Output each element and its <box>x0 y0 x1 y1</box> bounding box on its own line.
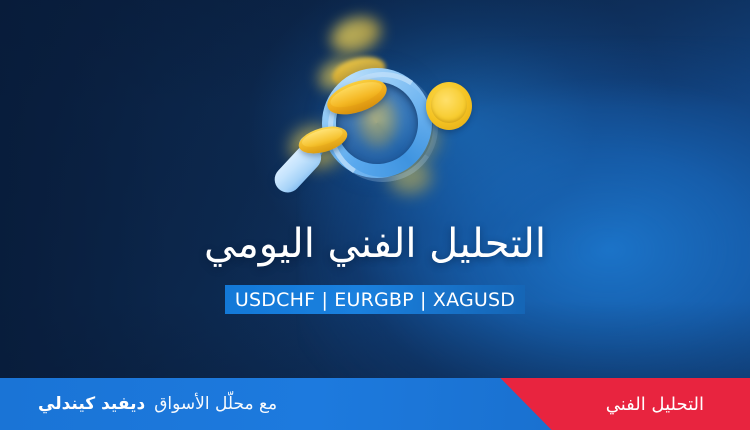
blurred-coin-icon <box>326 11 386 59</box>
promo-banner: التحليل الفني اليومي USDCHF | EURGBP | X… <box>0 0 750 430</box>
presenter-label: مع محلّل الأسواق <box>154 394 277 414</box>
presenter-name: ديفيد كيندلي <box>38 394 145 414</box>
footer-bar: مع محلّل الأسواق ديفيد كيندلي التحليل ال… <box>0 378 750 430</box>
footer-category: التحليل الفني <box>606 378 704 430</box>
page-title: التحليل الفني اليومي <box>0 222 750 266</box>
presenter-block: مع محلّل الأسواق ديفيد كيندلي <box>38 378 277 430</box>
coin-icon <box>426 82 472 130</box>
currency-pairs-badge: USDCHF | EURGBP | XAGUSD <box>225 285 525 314</box>
hero-illustration <box>270 0 490 210</box>
currency-pairs-label: USDCHF | EURGBP | XAGUSD <box>235 289 515 311</box>
